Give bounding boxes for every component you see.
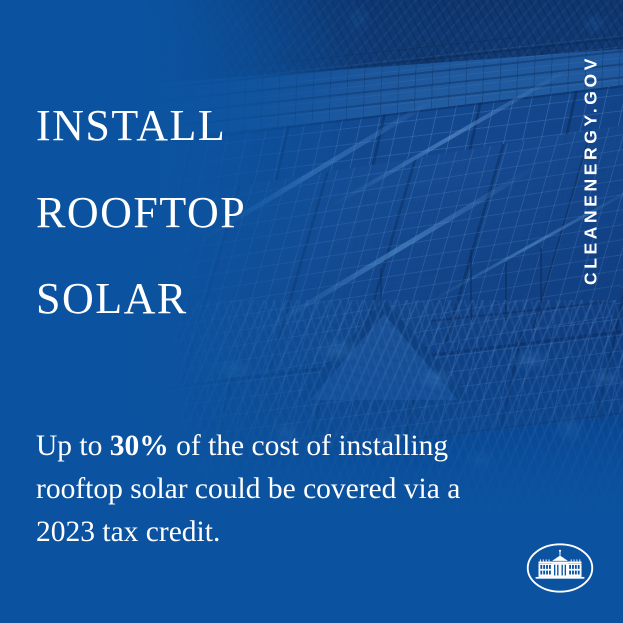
website-url-vertical: CLEANENERGY.GOV (559, 0, 623, 340)
page-title: Install Rooftop Solar (36, 76, 516, 335)
headline-line-2: Rooftop (36, 163, 516, 249)
body-copy: Up to 30% of the cost of installing roof… (36, 425, 506, 553)
body-text-before: Up to (36, 430, 110, 462)
discount-highlight: 30% (110, 430, 169, 462)
poster-content: Install Rooftop Solar CLEANENERGY.GOV Up… (0, 0, 623, 623)
poster-canvas: Install Rooftop Solar CLEANENERGY.GOV Up… (0, 0, 623, 623)
headline-line-3: Solar (36, 249, 516, 335)
white-house-seal-logo (517, 535, 603, 601)
headline-line-1: Install (36, 76, 516, 162)
